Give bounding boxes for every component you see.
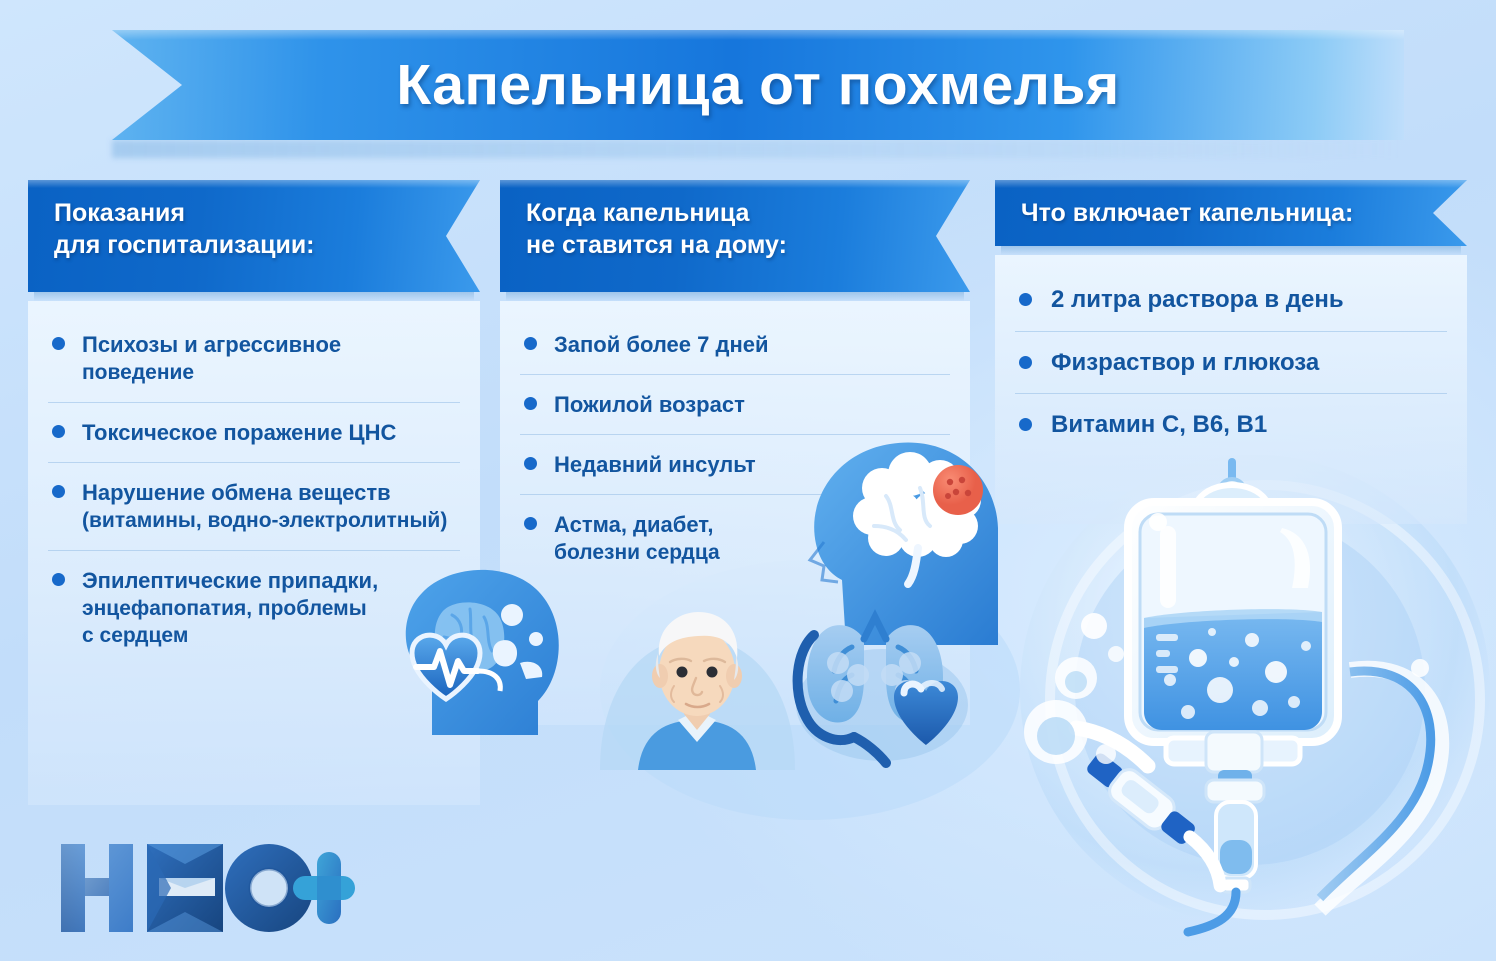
bullet-dot-icon bbox=[52, 425, 65, 438]
list-item: Недавний инсульт bbox=[520, 434, 950, 494]
list-item-subtext: болезни сердца bbox=[554, 539, 944, 567]
header-shadow bbox=[1001, 246, 1461, 255]
title-banner-shadow bbox=[112, 140, 1402, 158]
column-panel-contents: 2 литра раствора в день Физраствор и глю… bbox=[995, 255, 1467, 524]
list-item-text: Эпилептические припадки, bbox=[82, 568, 378, 593]
bullet-list-indications: Психозы и агрессивное поведение Токсичес… bbox=[48, 315, 460, 665]
list-item: Астма, диабет, болезни сердца bbox=[520, 494, 950, 582]
column-header-indications: Показания для госпитализации: bbox=[28, 180, 480, 292]
list-item-text: Астма, диабет, bbox=[554, 512, 714, 537]
list-item-subtext: поведение bbox=[82, 359, 454, 387]
list-item-subtext: (витамины, водно-электролитный) bbox=[82, 507, 454, 535]
list-item-text: 2 литра раствора в день bbox=[1051, 286, 1344, 313]
list-item-text: Запой более 7 дней bbox=[554, 332, 769, 357]
list-item: Нарушение обмена веществ (витамины, водн… bbox=[48, 462, 460, 550]
column-contraindications: Когда капельница не ставится на дому: За… bbox=[500, 180, 970, 725]
bullet-dot-icon bbox=[524, 457, 537, 470]
bullet-dot-icon bbox=[1019, 418, 1032, 431]
list-item: Витамин C, B6, B1 bbox=[1015, 393, 1447, 456]
list-item-subtext: энцефапопатия, проблемы с сердцем bbox=[82, 595, 454, 650]
list-item-text: Недавний инсульт bbox=[554, 452, 756, 477]
column-header-contents: Что включает капельница: bbox=[995, 180, 1467, 246]
bullet-list-contraindications: Запой более 7 дней Пожилой возраст Недав… bbox=[520, 315, 950, 582]
list-item-text: Нарушение обмена веществ bbox=[82, 480, 391, 505]
list-item-text: Токсическое поражение ЦНС bbox=[82, 420, 396, 445]
page-title: Капельница от похмелья bbox=[112, 30, 1404, 140]
bullet-dot-icon bbox=[52, 337, 65, 350]
column-header-line-2: не ставится на дому: bbox=[526, 229, 944, 261]
column-contents: Что включает капельница: 2 литра раствор… bbox=[995, 180, 1467, 524]
column-header-line-1: Когда капельница bbox=[526, 197, 944, 229]
column-panel-indications: Психозы и агрессивное поведение Токсичес… bbox=[28, 301, 480, 805]
column-panel-contraindications: Запой более 7 дней Пожилой возраст Недав… bbox=[500, 301, 970, 725]
header-sheen bbox=[995, 180, 1467, 188]
bullet-dot-icon bbox=[524, 337, 537, 350]
list-item-text: Витамин C, B6, B1 bbox=[1051, 411, 1267, 438]
list-item: Токсическое поражение ЦНС bbox=[48, 402, 460, 462]
infographic-canvas: Капельница от похмелья Показания для гос… bbox=[0, 0, 1496, 961]
bullet-dot-icon bbox=[52, 485, 65, 498]
column-header-contraindications: Когда капельница не ставится на дому: bbox=[500, 180, 970, 292]
header-sheen bbox=[500, 180, 970, 188]
bullet-list-contents: 2 литра раствора в день Физраствор и глю… bbox=[1015, 269, 1447, 456]
bullet-dot-icon bbox=[52, 573, 65, 586]
background-ring bbox=[1045, 480, 1485, 920]
list-item: Эпилептические припадки, энцефапопатия, … bbox=[48, 550, 460, 665]
column-header-line-1: Что включает капельница: bbox=[1021, 197, 1441, 229]
list-item-text: Пожилой возраст bbox=[554, 392, 745, 417]
list-item-text: Психозы и агрессивное bbox=[82, 332, 341, 357]
column-indications: Показания для госпитализации: Психозы и … bbox=[28, 180, 480, 805]
list-item: Пожилой возраст bbox=[520, 374, 950, 434]
list-item-text: Физраствор и глюкоза bbox=[1051, 349, 1319, 376]
header-shadow bbox=[34, 292, 474, 301]
header-shadow bbox=[506, 292, 964, 301]
brand-logo-neo-plus bbox=[55, 838, 355, 938]
list-item: Психозы и агрессивное поведение bbox=[48, 315, 460, 402]
header-sheen bbox=[28, 180, 480, 188]
column-header-line-2: для госпитализации: bbox=[54, 229, 454, 261]
bullet-dot-icon bbox=[524, 397, 537, 410]
title-banner: Капельница от похмелья bbox=[0, 30, 1496, 158]
list-item: 2 литра раствора в день bbox=[1015, 269, 1447, 331]
bullet-dot-icon bbox=[524, 517, 537, 530]
bullet-dot-icon bbox=[1019, 293, 1032, 306]
column-header-line-1: Показания bbox=[54, 197, 454, 229]
list-item: Запой более 7 дней bbox=[520, 315, 950, 374]
bullet-dot-icon bbox=[1019, 356, 1032, 369]
list-item: Физраствор и глюкоза bbox=[1015, 331, 1447, 394]
